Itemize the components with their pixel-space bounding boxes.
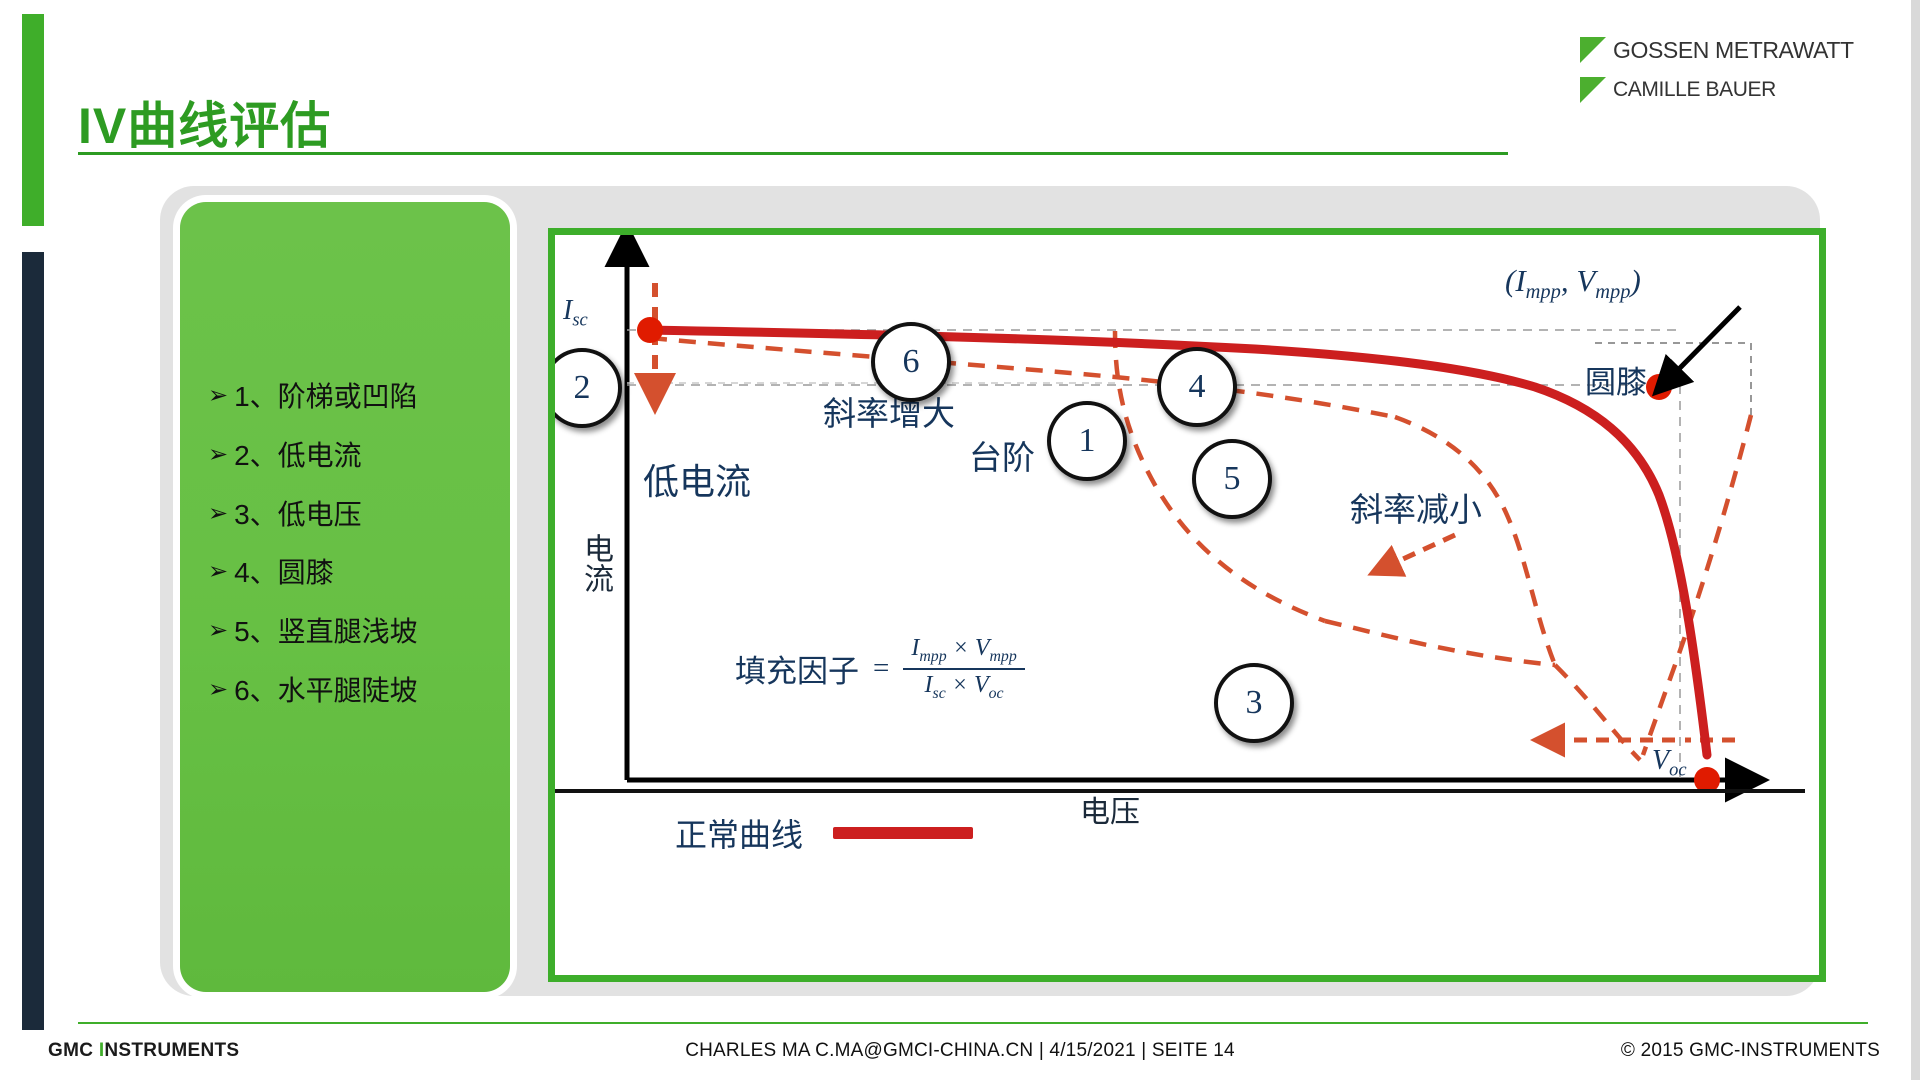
formula-denominator: Isc × Voc — [917, 670, 1012, 703]
callout-1[interactable]: 1 — [1047, 401, 1127, 481]
legend-swatch-normal-curve — [833, 827, 973, 839]
chart-legend: 正常曲线 — [675, 810, 973, 856]
isc-label: Isc — [563, 295, 588, 331]
chart-inner: 电流 电压 Isc Voc (Impp, Vmpp) 圆膝 斜率增大 台阶 斜率… — [555, 235, 1819, 975]
logo-text-camille: CAMILLE BAUER — [1613, 78, 1776, 102]
list-item: ➢ 3、低电压 — [208, 500, 508, 531]
list-item-label: 2、低电流 — [234, 441, 362, 472]
callout-6[interactable]: 6 — [871, 322, 951, 402]
slide-root: IV曲线评估 GOSSEN METRAWATT CAMILLE BAUER ➢ … — [0, 0, 1920, 1080]
den-i-symbol: I — [925, 672, 933, 698]
mpp-pointer-arrow — [1673, 307, 1740, 375]
formula-lhs: 填充因子 — [735, 646, 859, 691]
num-v-symbol: V — [975, 635, 990, 661]
list-item-label: 3、低电压 — [234, 500, 362, 531]
fault-curve-d — [1325, 621, 1555, 665]
fault-curve-e — [1555, 665, 1640, 760]
den-v-subscript: oc — [989, 685, 1004, 702]
voc-symbol: V — [1652, 745, 1669, 776]
logo-row-gossen: GOSSEN METRAWATT — [1580, 30, 1860, 70]
x-axis-label: 电压 — [1080, 787, 1140, 831]
bullet-panel: ➢ 1、阶梯或凹陷 ➢ 2、低电流 ➢ 3、低电压 ➢ 4、圆膝 ➢ 5、竖直腿… — [180, 202, 510, 992]
callout-3[interactable]: 3 — [1214, 663, 1294, 743]
knee-annotation: 圆膝 — [1585, 357, 1647, 402]
isc-subscript: sc — [572, 310, 587, 330]
right-edge-strip — [1911, 0, 1920, 1080]
num-times: × — [947, 635, 975, 661]
formula-numerator: Impp × Vmpp — [903, 635, 1024, 668]
den-v-symbol: V — [974, 672, 989, 698]
triangle-icon — [1580, 77, 1606, 103]
company-logo: GOSSEN METRAWATT CAMILLE BAUER — [1580, 30, 1860, 110]
formula-equals: = — [873, 652, 889, 685]
fill-factor-formula: 填充因子 = Impp × Vmpp Isc × Voc — [735, 635, 1025, 703]
num-i-subscript: mpp — [919, 648, 946, 665]
list-item: ➢ 1、阶梯或凹陷 — [208, 382, 508, 413]
arrow-bullet-icon: ➢ — [208, 676, 228, 705]
num-v-subscript: mpp — [990, 648, 1017, 665]
list-item-label: 1、阶梯或凹陷 — [234, 382, 418, 413]
mpp-close-paren: ) — [1631, 263, 1641, 298]
fault-curve-c — [1395, 417, 1555, 665]
marker-mpp — [1646, 374, 1672, 400]
page-title: IV曲线评估 — [78, 86, 331, 158]
callout-4[interactable]: 4 — [1157, 347, 1237, 427]
legend-label: 正常曲线 — [675, 810, 803, 856]
title-underline — [78, 152, 1508, 155]
iv-curve-chart: 电流 电压 Isc Voc (Impp, Vmpp) 圆膝 斜率增大 台阶 斜率… — [548, 228, 1826, 982]
list-item: ➢ 6、水平腿陡坡 — [208, 676, 508, 707]
low-current-annotation: 低电流 — [643, 453, 751, 505]
mpp-v-symbol: V — [1576, 263, 1595, 298]
list-item-label: 6、水平腿陡坡 — [234, 676, 418, 707]
footer-copyright: © 2015 GMC-INSTRUMENTS — [1621, 1040, 1880, 1062]
mpp-i-subscript: mpp — [1526, 281, 1561, 303]
left-accent-bar-dark — [22, 252, 44, 1030]
arrow-bullet-icon: ➢ — [208, 558, 228, 587]
list-item-label: 4、圆膝 — [234, 558, 334, 589]
list-item: ➢ 5、竖直腿浅坡 — [208, 617, 508, 648]
voc-subscript: oc — [1669, 760, 1686, 780]
arrow-bullet-icon: ➢ — [208, 617, 228, 646]
mpp-annotation: (Impp, Vmpp) — [1505, 263, 1641, 304]
list-item: ➢ 4、圆膝 — [208, 558, 508, 589]
arrow-bullet-icon: ➢ — [208, 441, 228, 470]
arrow-bullet-icon: ➢ — [208, 500, 228, 529]
mpp-v-subscript: mpp — [1595, 281, 1630, 303]
footer-divider — [78, 1022, 1868, 1024]
den-i-subscript: sc — [933, 685, 946, 702]
slope-down-annotation: 斜率减小 — [1350, 483, 1482, 531]
isc-symbol: I — [563, 295, 572, 326]
mpp-comma: , — [1561, 263, 1577, 298]
den-times: × — [946, 672, 974, 698]
marker-isc — [637, 317, 663, 343]
callout-5[interactable]: 5 — [1192, 439, 1272, 519]
list-item-label: 5、竖直腿浅坡 — [234, 617, 418, 648]
y-axis-label: 电流 — [573, 533, 617, 593]
step-annotation: 台阶 — [969, 431, 1035, 479]
list-item: ➢ 2、低电流 — [208, 441, 508, 472]
mpp-open-paren: ( — [1505, 263, 1515, 298]
arrow-slope-down — [1390, 535, 1455, 565]
logo-text-gossen: GOSSEN METRAWATT — [1613, 37, 1854, 64]
left-accent-bar-green — [22, 14, 44, 226]
bullet-list: ➢ 1、阶梯或凹陷 ➢ 2、低电流 ➢ 3、低电压 ➢ 4、圆膝 ➢ 5、竖直腿… — [208, 382, 508, 735]
formula-fraction: Impp × Vmpp Isc × Voc — [903, 635, 1024, 703]
voc-label: Voc — [1652, 745, 1687, 781]
arrow-bullet-icon: ➢ — [208, 382, 228, 411]
logo-row-camille: CAMILLE BAUER — [1580, 70, 1860, 110]
triangle-icon — [1580, 37, 1606, 63]
mpp-i-symbol: I — [1515, 263, 1525, 298]
